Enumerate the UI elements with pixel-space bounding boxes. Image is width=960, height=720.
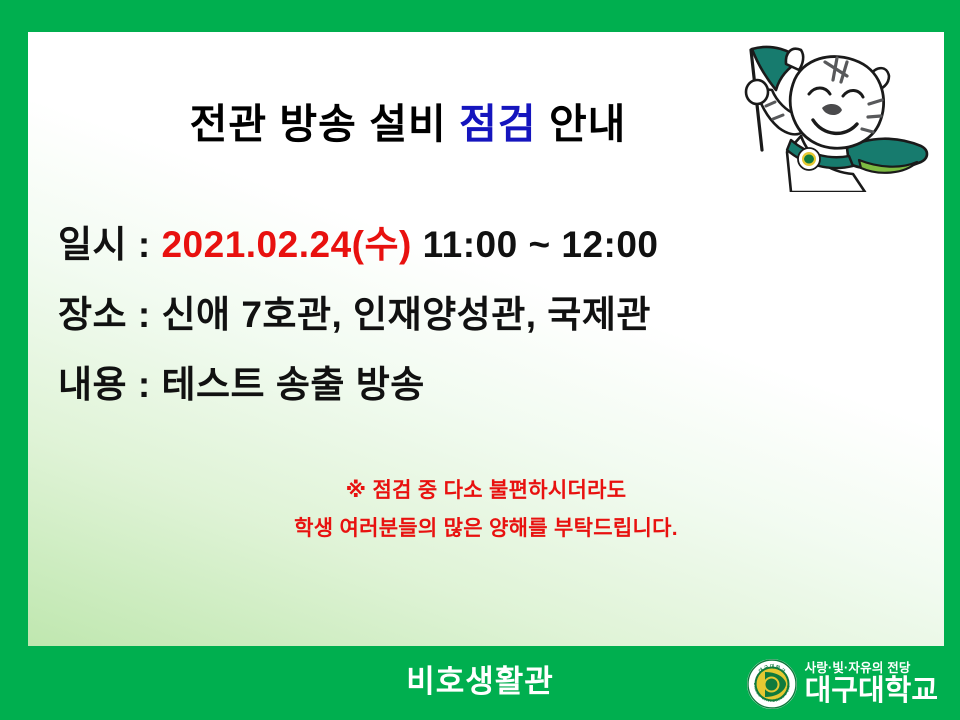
title-text-after: 안내 (537, 101, 627, 147)
announcement-poster: 전관 방송 설비 점검 안내 일시 : 2021.02.24(수) 11:00 … (0, 0, 960, 720)
poster-title: 전관 방송 설비 점검 안내 (28, 90, 788, 150)
notice-block: ※ 점검 중 다소 불편하시더라도 학생 여러분들의 많은 양해를 부탁드립니다… (28, 472, 944, 548)
info-line-location: 장소 : 신애 7호관, 인재양성관, 국제관 (58, 280, 918, 350)
notice-line-2: 학생 여러분들의 많은 양해를 부탁드립니다. (28, 510, 944, 548)
info-label-datetime: 일시 : (58, 224, 161, 265)
university-tagline: 사랑·빛·자유의 전당 (805, 662, 938, 675)
info-value-location: 신애 7호관, 인재양성관, 국제관 (161, 294, 650, 335)
university-name: 대구대학교 (805, 677, 938, 706)
info-label-content: 내용 : (58, 364, 161, 405)
footer-bar: 비호생활관 대 구 대 학 교 (0, 646, 960, 720)
content-panel: 전관 방송 설비 점검 안내 일시 : 2021.02.24(수) 11:00 … (28, 32, 944, 646)
info-value-date: 2021.02.24(수) (161, 224, 411, 265)
daegu-university-seal-icon: 대 구 대 학 교 DAEGU UNIVERSITY 1956 (746, 658, 798, 710)
info-block: 일시 : 2021.02.24(수) 11:00 ~ 12:00 장소 : 신애… (58, 210, 918, 420)
info-line-datetime: 일시 : 2021.02.24(수) 11:00 ~ 12:00 (58, 210, 918, 280)
title-text-highlight: 점검 (459, 101, 536, 147)
notice-line-1: ※ 점검 중 다소 불편하시더라도 (28, 472, 944, 510)
scarf-badge (798, 148, 820, 170)
university-logo-text: 사랑·빛·자유의 전당 대구대학교 (805, 662, 938, 706)
info-value-content: 테스트 송출 방송 (161, 364, 424, 405)
title-text-before: 전관 방송 설비 (190, 101, 460, 147)
info-line-content: 내용 : 테스트 송출 방송 (58, 350, 918, 420)
university-logo: 대 구 대 학 교 DAEGU UNIVERSITY 1956 사랑·빛·자유의… (746, 654, 938, 714)
info-value-time: 11:00 ~ 12:00 (412, 224, 659, 265)
info-label-location: 장소 : (58, 294, 161, 335)
